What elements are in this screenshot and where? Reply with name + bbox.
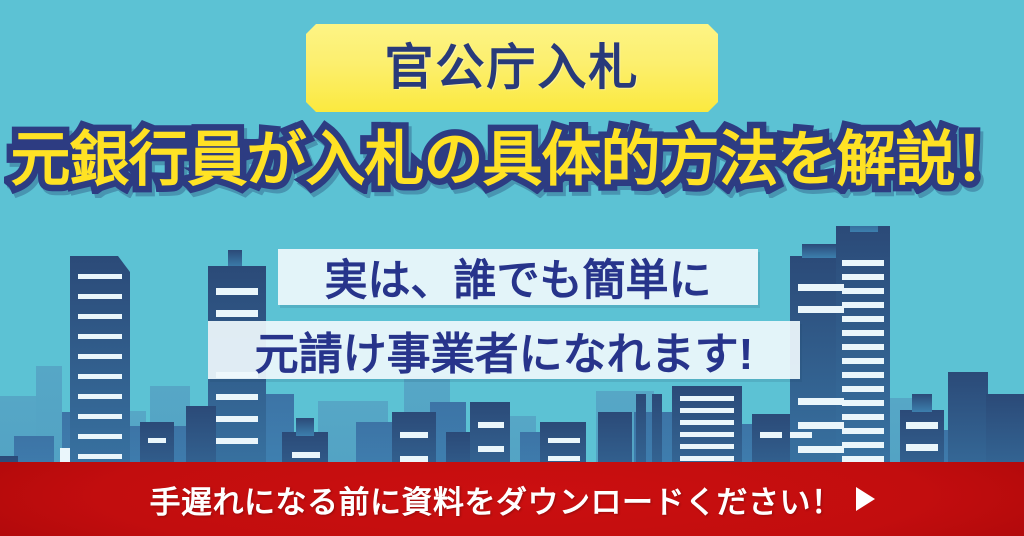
cta-label: 手遅れになる前に資料をダウンロードください！ <box>150 477 843 522</box>
subheadline-box-1: 実は、誰でも簡単に <box>278 249 758 305</box>
ribbon-container: 官公庁入札 <box>0 22 1024 114</box>
ribbon-label: 官公庁入札 <box>384 44 639 93</box>
play-triangle-right-icon <box>856 487 875 511</box>
promotional-banner: 官公庁入札 元銀行員が入札の具体的方法を解説！ 実は、誰でも簡単に 元請け事業者… <box>0 0 1024 536</box>
headline-text: 元銀行員が入札の具体的方法を解説！ <box>0 128 1024 191</box>
subheadline-label-2: 元請け事業者になれます! <box>255 318 754 382</box>
category-ribbon: 官公庁入札 <box>306 24 718 112</box>
subheadline-box-2: 元請け事業者になれます! <box>208 321 800 379</box>
subheadline-label-1: 実は、誰でも簡単に <box>325 246 712 308</box>
cta-bar[interactable]: 手遅れになる前に資料をダウンロードください！ <box>0 462 1024 536</box>
